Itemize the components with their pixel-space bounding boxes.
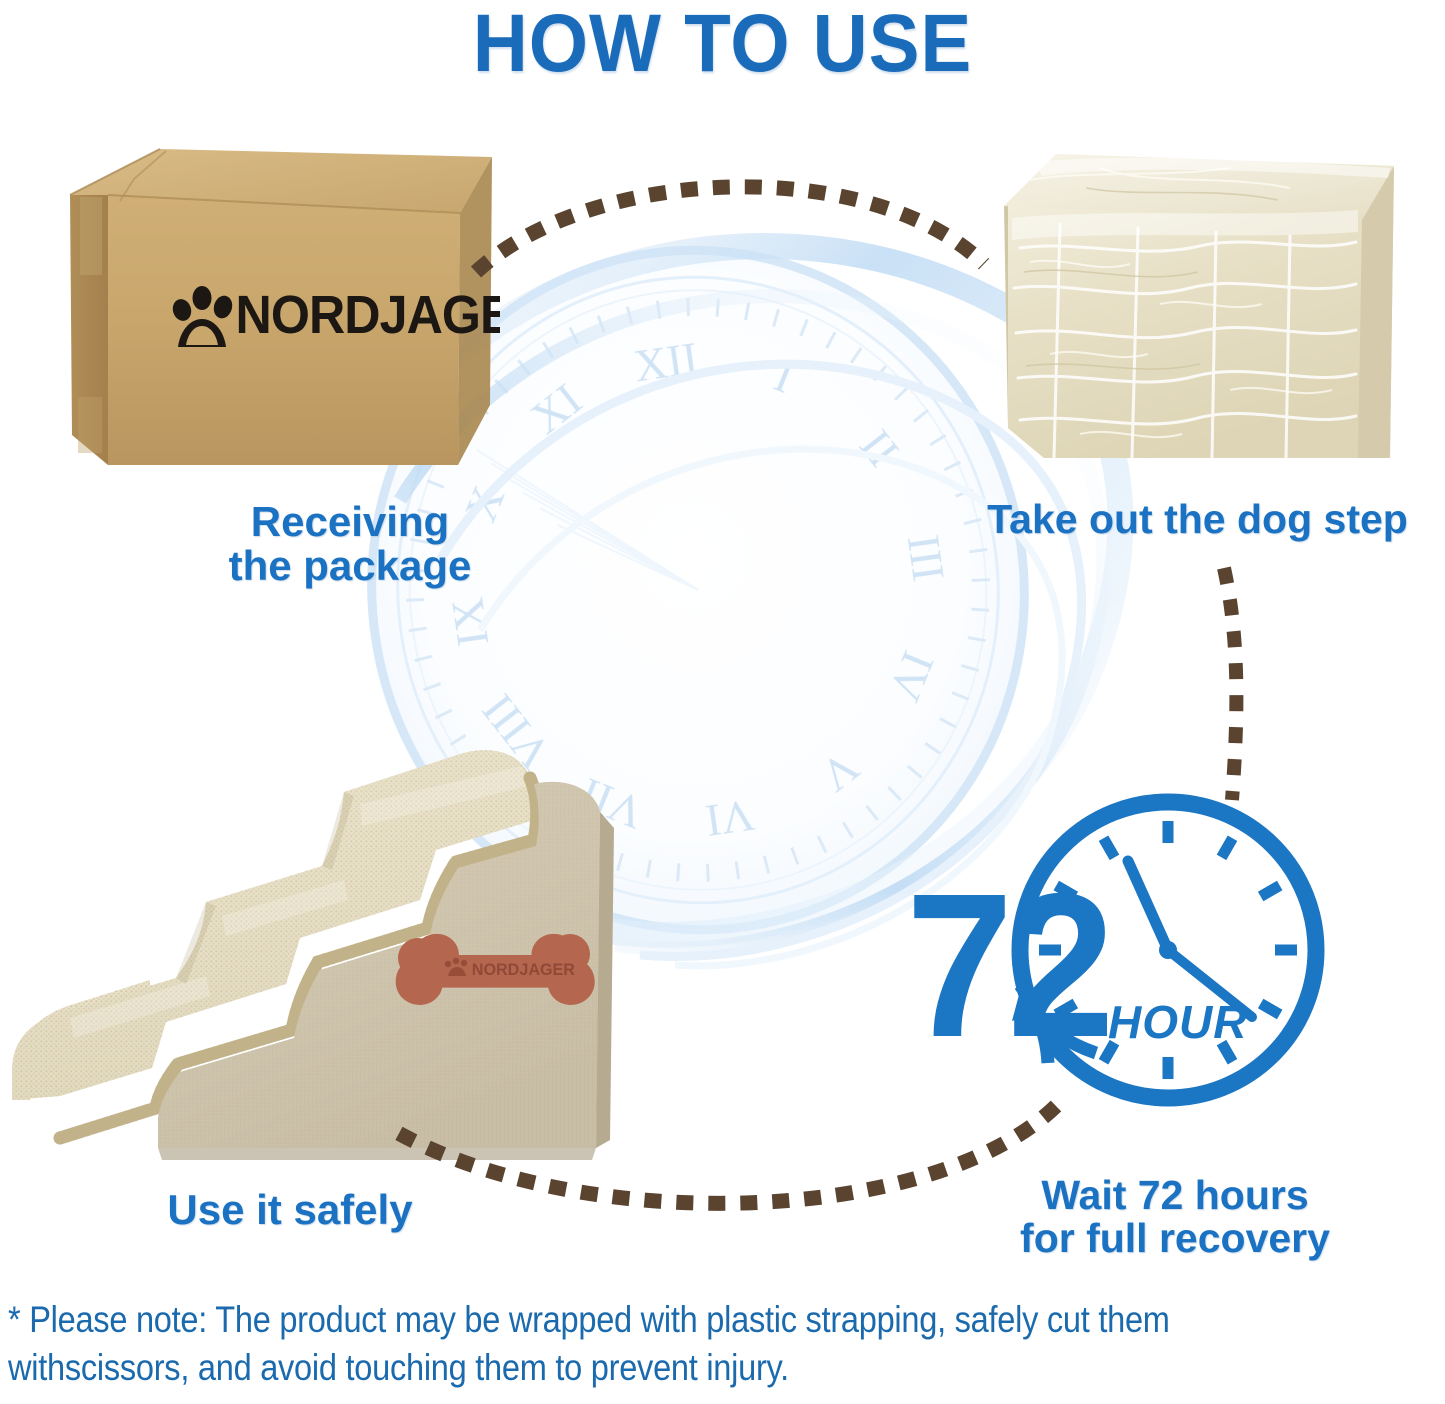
svg-text:IX: IX [441,594,498,649]
svg-text:II: II [850,420,909,476]
page-title: HOW TO USE [51,0,1395,92]
step-4-caption: Use it safely [60,1188,520,1232]
svg-text:V: V [811,741,869,802]
step-1-caption: Receiving the package [150,500,550,587]
dog-step-stairs-icon: NORDJAGER [0,700,650,1170]
svg-text:NORDJAGER: NORDJAGER [236,285,500,345]
cardboard-box-icon: NORDJAGER [60,135,500,495]
badge-number: 72 [906,863,1109,1068]
step-3-caption: Wait 72 hours for full recovery [960,1174,1390,1259]
svg-text:VI: VI [702,790,757,847]
svg-text:NORDJAGER: NORDJAGER [472,960,575,979]
svg-text:III: III [898,532,955,585]
badge-unit-label: HOUR [1108,995,1247,1049]
infographic-canvas: XII I II III IV V VI VII VIII IX X XI [0,0,1445,1404]
dashed-arrow-top [470,160,990,280]
step-2-caption: Take out the dog step [950,498,1445,541]
svg-text:IV: IV [879,644,944,708]
footnote-text: * Please note: The product may be wrappe… [8,1296,1258,1392]
svg-text:XII: XII [631,332,701,391]
svg-text:XI: XI [521,373,591,443]
dashed-arrow-right [1170,560,1290,810]
clock-72-hour-icon: 72 HOUR [900,785,1370,1115]
shrink-wrapped-foam-icon [990,128,1410,503]
svg-text:I: I [768,350,801,403]
